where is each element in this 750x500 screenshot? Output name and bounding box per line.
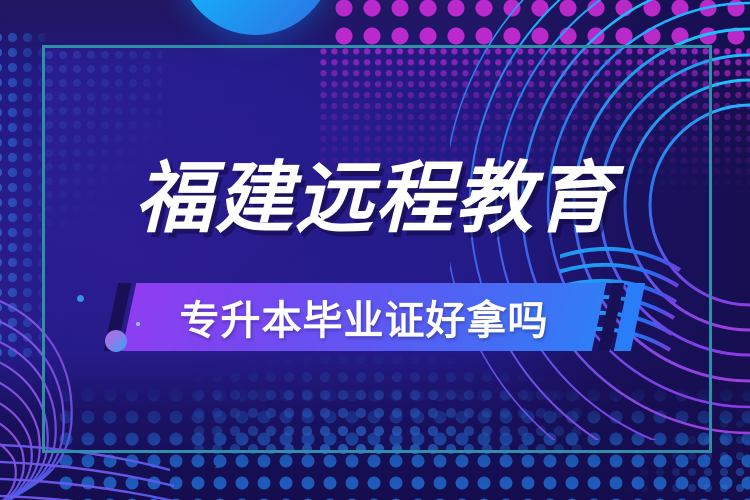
subtitle-bar: 专升本毕业证好拿吗 bbox=[105, 283, 650, 351]
banner-title: 福建远程教育 bbox=[0, 160, 750, 238]
accent-dot2-icon bbox=[77, 295, 84, 302]
banner-subtitle: 专升本毕业证好拿吗 bbox=[129, 283, 599, 351]
promo-banner: 福建远程教育 专升本毕业证好拿吗 bbox=[0, 0, 750, 500]
mini-sphere-icon bbox=[105, 330, 127, 352]
accent-dot-icon bbox=[136, 322, 140, 326]
